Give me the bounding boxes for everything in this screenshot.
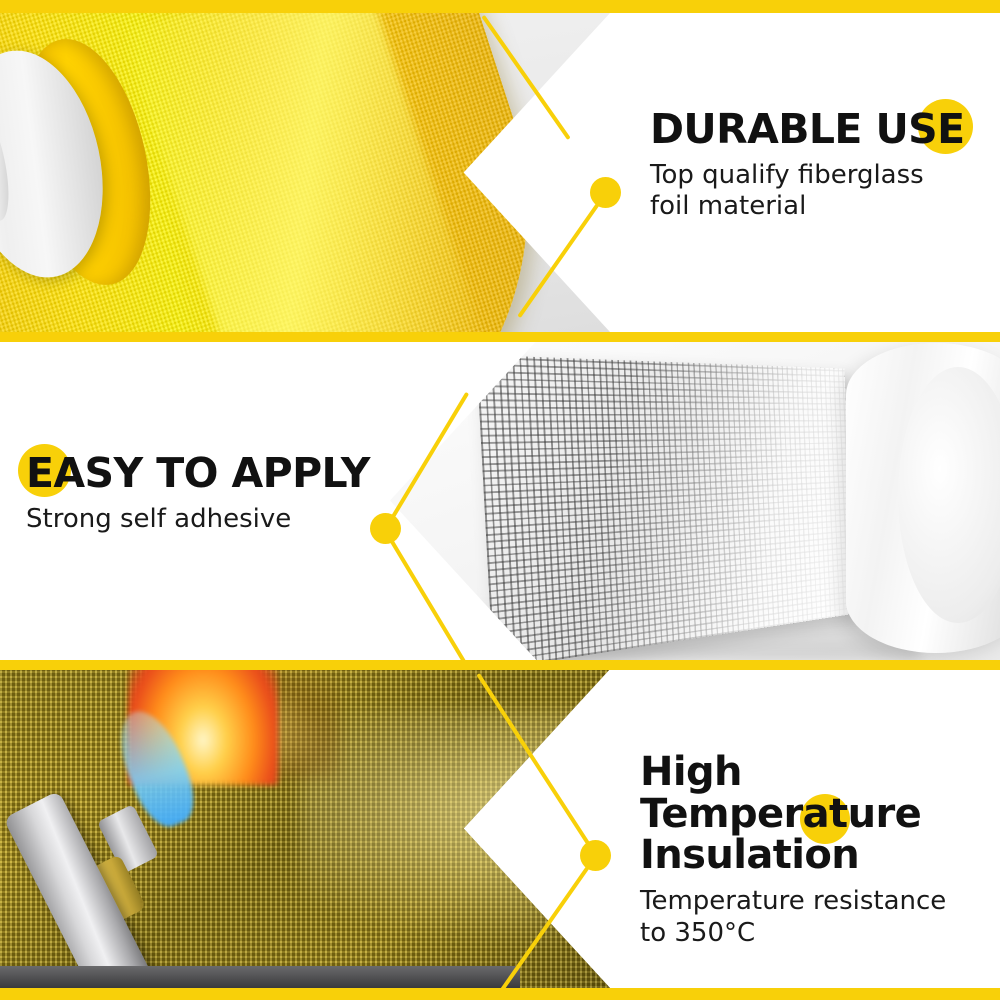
chevron-arm-upper bbox=[476, 673, 599, 860]
headline-accent-dot bbox=[800, 794, 850, 844]
headline-accent-dot bbox=[18, 444, 71, 497]
feature-body-easy-to-apply: Strong self adhesive bbox=[26, 504, 386, 536]
feature-text-easy-to-apply: EASY TO APPLY Strong self adhesive bbox=[26, 452, 386, 535]
feature-headline-high-temperature-insulation: High Temperature Insulation bbox=[640, 752, 1000, 877]
top-border-bar bbox=[0, 0, 1000, 13]
feature-headline-durable-use: DURABLE USE bbox=[650, 108, 990, 151]
feature-headline-easy-to-apply: EASY TO APPLY bbox=[26, 452, 386, 495]
feature-text-high-temperature-insulation: High Temperature Insulation Temperature … bbox=[640, 752, 1000, 949]
bottom-border-bar bbox=[0, 988, 1000, 1000]
chevron-arm-lower bbox=[493, 856, 597, 1000]
panel-divider-2 bbox=[0, 660, 1000, 670]
product-feature-infographic: DURABLE USE Top qualify fiberglass foil … bbox=[0, 0, 1000, 1000]
panel-divider-1 bbox=[0, 332, 1000, 342]
feature-body-durable-use: Top qualify fiberglass foil material bbox=[650, 160, 990, 223]
headline-accent-dot bbox=[918, 99, 973, 154]
feature-body-high-temperature-insulation: Temperature resistance to 350°C bbox=[640, 886, 1000, 949]
connector-node-dot bbox=[580, 840, 611, 871]
feature-text-durable-use: DURABLE USE Top qualify fiberglass foil … bbox=[650, 108, 990, 223]
